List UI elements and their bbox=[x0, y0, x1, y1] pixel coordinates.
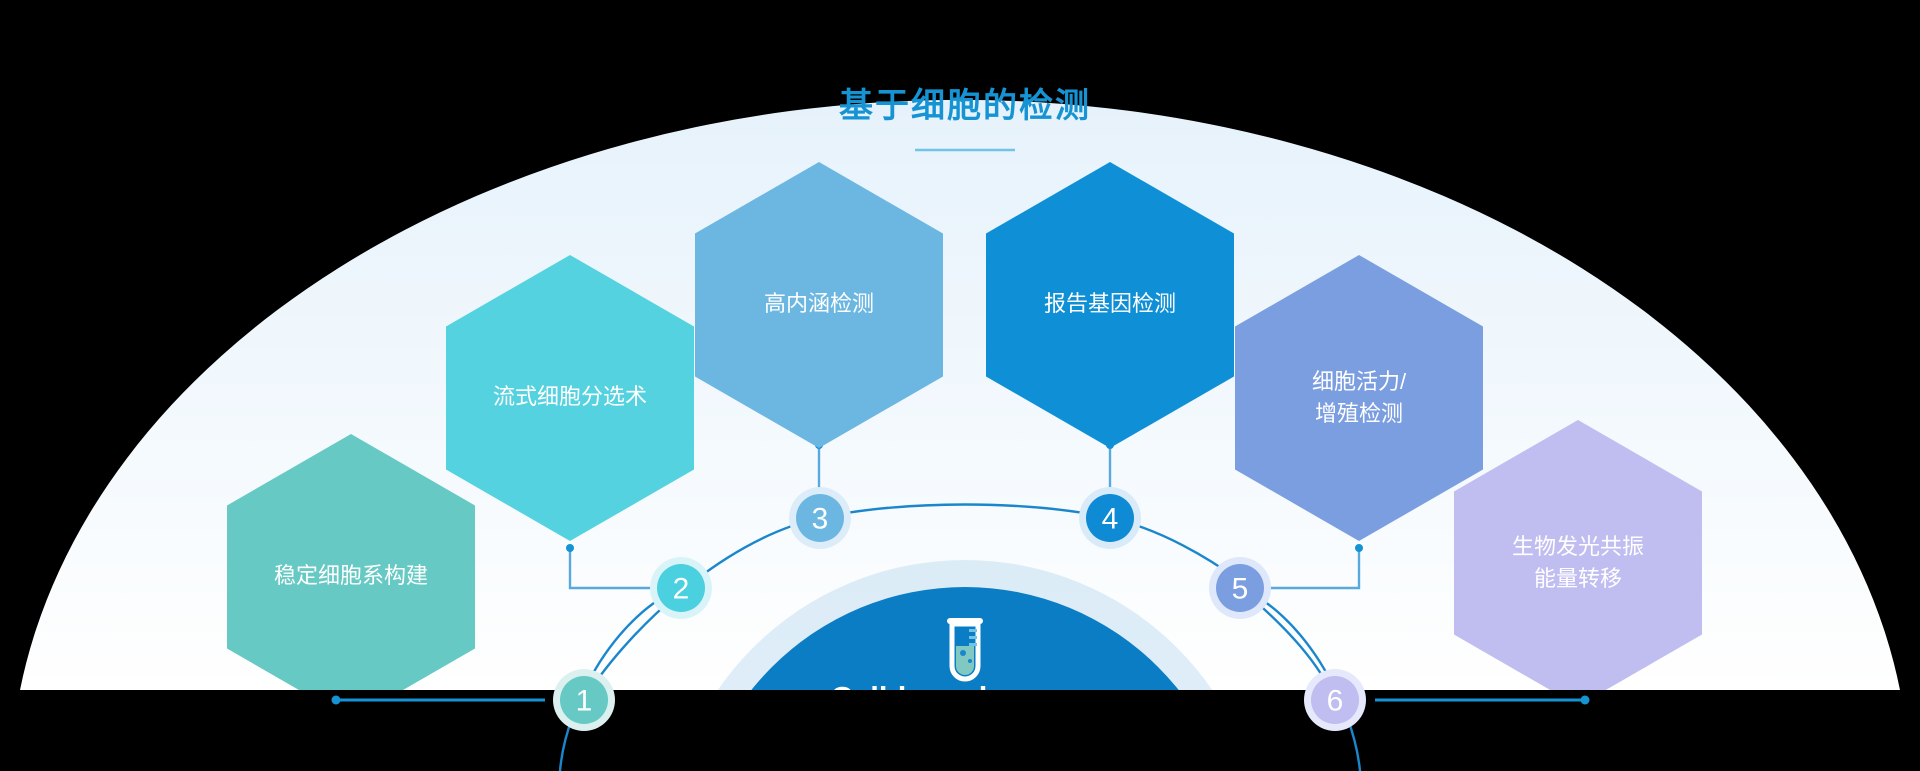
baseline-group bbox=[332, 696, 1590, 705]
hexagon-label-5-line2: 增殖检测 bbox=[1315, 401, 1403, 426]
badge-number-1: 1 bbox=[576, 685, 593, 718]
badge-number-3: 3 bbox=[812, 503, 829, 536]
step-badge-6[interactable]: 6 bbox=[1304, 669, 1366, 731]
center-title-line2: for MOA & SAR bbox=[852, 720, 1078, 755]
step-badge-5[interactable]: 5 bbox=[1209, 557, 1271, 619]
hexagon-label-2: 流式细胞分选术 bbox=[493, 384, 647, 409]
badge-number-4: 4 bbox=[1102, 503, 1119, 536]
hexagon-label-6-line2: 能量转移 bbox=[1534, 566, 1622, 591]
page-title: 基于细胞的检测 bbox=[839, 86, 1091, 125]
baseline-right-dot bbox=[1581, 696, 1590, 705]
hexagon-label-5-line1: 细胞活力/ bbox=[1312, 369, 1407, 394]
hexagon-label-3: 高内涵检测 bbox=[764, 291, 874, 316]
badge-number-2: 2 bbox=[673, 573, 690, 606]
infographic-canvas: 基于细胞的检测 bbox=[0, 0, 1920, 771]
center-title-line1: Cell-based assays bbox=[831, 680, 1100, 715]
step-badge-4[interactable]: 4 bbox=[1079, 487, 1141, 549]
baseline-left-dot bbox=[332, 696, 341, 705]
step-badge-3[interactable]: 3 bbox=[789, 487, 851, 549]
hexagon-label-1: 稳定细胞系构建 bbox=[274, 563, 428, 588]
elbow-dot-hex5 bbox=[1355, 544, 1363, 552]
step-badge-1[interactable]: 1 bbox=[553, 669, 615, 731]
hexagon-label-4: 报告基因检测 bbox=[1044, 291, 1176, 316]
hexagon-label-6-line1: 生物发光共振 bbox=[1512, 534, 1644, 559]
elbow-dot-hex2 bbox=[566, 544, 574, 552]
step-badge-2[interactable]: 2 bbox=[650, 557, 712, 619]
infographic-svg: 基于细胞的检测 bbox=[0, 0, 1920, 771]
badge-number-6: 6 bbox=[1327, 685, 1344, 718]
badge-number-5: 5 bbox=[1232, 573, 1249, 606]
